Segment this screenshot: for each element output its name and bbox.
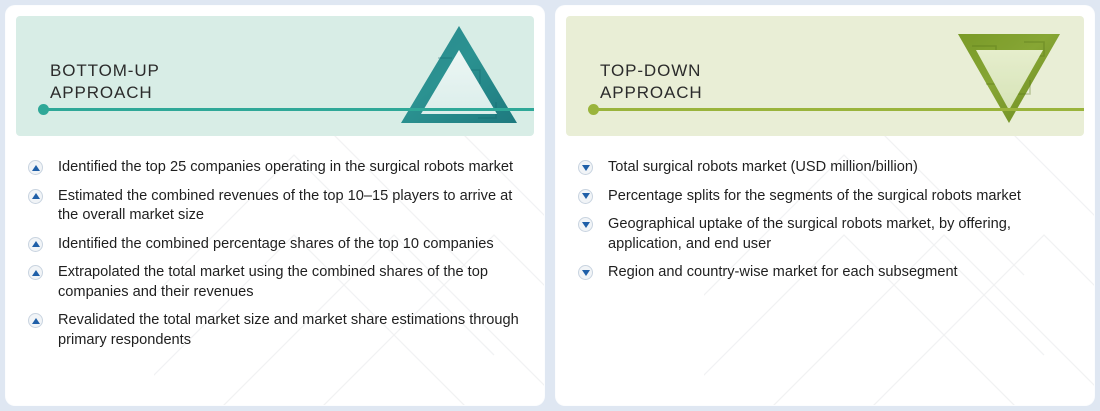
list-item: Extrapolated the total market using the … <box>28 263 526 302</box>
approaches-diagram: BOTTOM-UP APPROACH <box>0 0 1100 411</box>
list-item-text: Total surgical robots market (USD millio… <box>608 159 918 175</box>
list-item: Identified the top 25 companies operatin… <box>28 158 526 178</box>
list-item-text: Estimated the combined revenues of the t… <box>58 188 512 224</box>
triangle-down-bullet-icon <box>578 265 593 280</box>
header-rule-bottom-up <box>38 108 534 111</box>
list-item: Identified the combined percentage share… <box>28 235 526 255</box>
list-item: Geographical uptake of the surgical robo… <box>578 215 1076 254</box>
header-rule-top-down <box>588 108 1084 111</box>
rule-line <box>46 108 534 111</box>
triangle-down-bullet-icon <box>578 189 593 204</box>
panel-top-down: TOP-DOWN APPROACH <box>556 6 1094 405</box>
list-bottom-up: Identified the top 25 companies operatin… <box>6 136 544 405</box>
header-top-down: TOP-DOWN APPROACH <box>566 16 1084 136</box>
triangle-up-bullet-icon <box>28 160 43 175</box>
panel-bottom-up: BOTTOM-UP APPROACH <box>6 6 544 405</box>
list-item: Revalidated the total market size and ma… <box>28 311 526 350</box>
header-bottom-up: BOTTOM-UP APPROACH <box>16 16 534 136</box>
list-item: Total surgical robots market (USD millio… <box>578 158 1076 178</box>
list-item-text: Revalidated the total market size and ma… <box>58 312 519 348</box>
triangle-down-bullet-icon <box>578 160 593 175</box>
rule-line <box>596 108 1084 111</box>
page-title-top-down: TOP-DOWN APPROACH <box>600 60 703 104</box>
triangle-up-bullet-icon <box>28 265 43 280</box>
triangle-up-bullet-icon <box>28 313 43 328</box>
list-item-text: Extrapolated the total market using the … <box>58 264 488 300</box>
list-item-text: Region and country-wise market for each … <box>608 264 958 280</box>
list-item: Percentage splits for the segments of th… <box>578 187 1076 207</box>
list-item: Estimated the combined revenues of the t… <box>28 187 526 226</box>
list-top-down: Total surgical robots market (USD millio… <box>556 136 1094 405</box>
triangle-down-bullet-icon <box>578 217 593 232</box>
list-item-text: Identified the top 25 companies operatin… <box>58 159 513 175</box>
page-title-bottom-up: BOTTOM-UP APPROACH <box>50 60 160 104</box>
list-item: Region and country-wise market for each … <box>578 263 1076 283</box>
list-item-text: Geographical uptake of the surgical robo… <box>608 216 1011 252</box>
triangle-up-bullet-icon <box>28 237 43 252</box>
triangle-up-bullet-icon <box>28 189 43 204</box>
list-item-text: Percentage splits for the segments of th… <box>608 188 1021 204</box>
list-item-text: Identified the combined percentage share… <box>58 236 494 252</box>
